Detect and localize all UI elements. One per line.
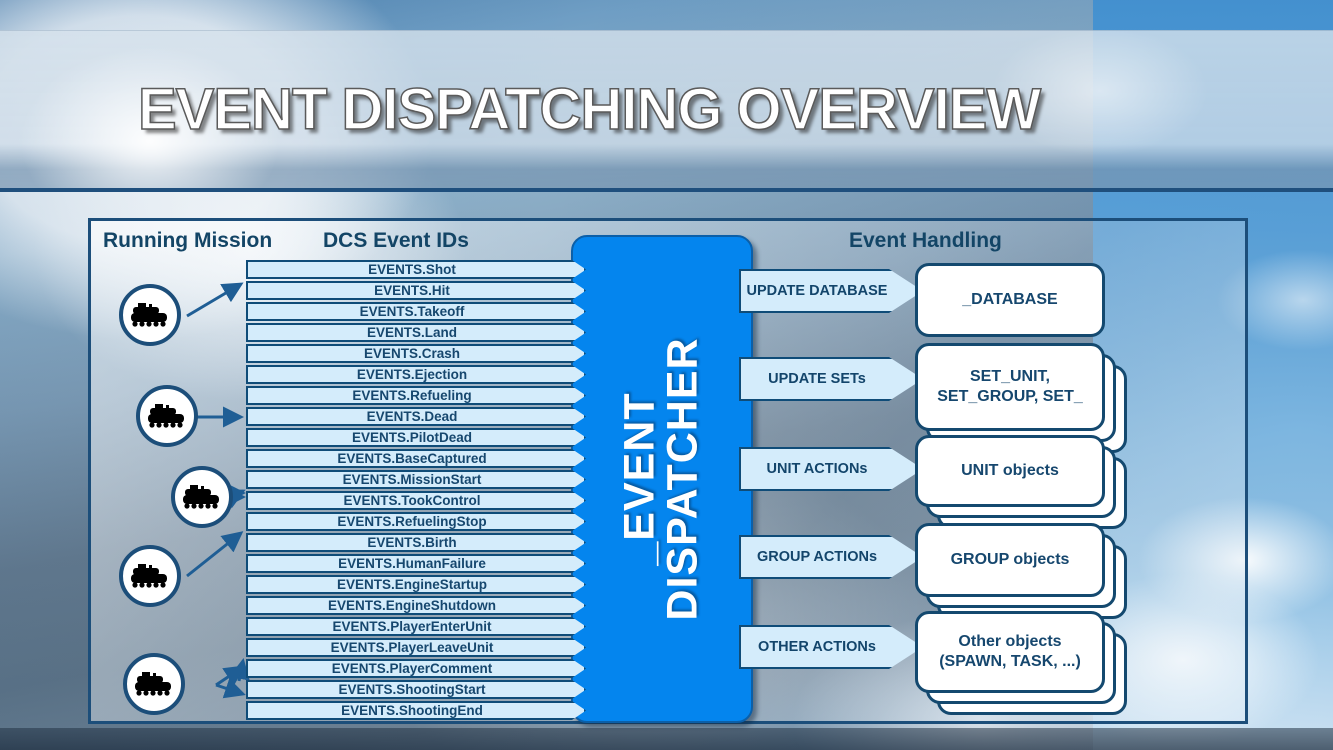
- handling-action-label: UPDATE DATABASE: [747, 283, 916, 299]
- tank-icon: [144, 401, 190, 431]
- event-id-list: EVENTS.ShotEVENTS.HitEVENTS.TakeoffEVENT…: [246, 260, 586, 722]
- event-id-row[interactable]: EVENTS.ShootingStart: [246, 680, 586, 699]
- handling-object-card[interactable]: Other objects(SPAWN, TASK, ...): [915, 611, 1105, 693]
- event-id-label: EVENTS.Land: [367, 325, 465, 340]
- event-id-row[interactable]: EVENTS.ShootingEnd: [246, 701, 586, 720]
- event-id-label: EVENTS.HumanFailure: [338, 556, 494, 571]
- handling-action-arrow[interactable]: UPDATE SETs: [739, 357, 923, 401]
- event-id-row[interactable]: EVENTS.Crash: [246, 344, 586, 363]
- unit-avatar-2[interactable]: [136, 385, 198, 447]
- tank-icon: [179, 482, 225, 512]
- event-id-row[interactable]: EVENTS.PilotDead: [246, 428, 586, 447]
- tank-icon: [131, 669, 177, 699]
- handling-object-label: GROUP objects: [951, 550, 1070, 570]
- event-id-label: EVENTS.PlayerEnterUnit: [332, 619, 499, 634]
- event-id-row[interactable]: EVENTS.Ejection: [246, 365, 586, 384]
- handling-action-label: OTHER ACTIONs: [758, 639, 904, 655]
- handling-object-label: UNIT objects: [961, 461, 1059, 481]
- event-id-label: EVENTS.Takeoff: [360, 304, 473, 319]
- event-id-row[interactable]: EVENTS.EngineStartup: [246, 575, 586, 594]
- event-id-label: EVENTS.ShootingEnd: [341, 703, 491, 718]
- handling-object-group: GROUP objects: [915, 523, 1127, 621]
- event-id-row[interactable]: EVENTS.MissionStart: [246, 470, 586, 489]
- event-dispatcher-label: _EVENT DISPATCHER: [619, 337, 705, 620]
- handling-object-label: Other objects(SPAWN, TASK, ...): [939, 632, 1081, 672]
- event-id-label: EVENTS.Refueling: [352, 388, 479, 403]
- handling-action-arrow[interactable]: OTHER ACTIONs: [739, 625, 923, 669]
- event-id-row[interactable]: EVENTS.EngineShutdown: [246, 596, 586, 615]
- page-title: EVENT DISPATCHING OVERVIEW: [138, 76, 1040, 143]
- event-id-label: EVENTS.Birth: [367, 535, 464, 550]
- event-id-label: EVENTS.Crash: [364, 346, 468, 361]
- handling-object-card[interactable]: GROUP objects: [915, 523, 1105, 597]
- event-id-row[interactable]: EVENTS.PlayerEnterUnit: [246, 617, 586, 636]
- handling-action-label: UPDATE SETs: [768, 371, 894, 387]
- event-id-row[interactable]: EVENTS.Refueling: [246, 386, 586, 405]
- unit-avatar-1[interactable]: [119, 284, 181, 346]
- event-id-row[interactable]: EVENTS.TookControl: [246, 491, 586, 510]
- handling-object-group: Other objects(SPAWN, TASK, ...): [915, 611, 1127, 717]
- event-id-label: EVENTS.Hit: [374, 283, 458, 298]
- event-id-label: EVENTS.ShootingStart: [338, 682, 493, 697]
- event-id-label: EVENTS.PilotDead: [352, 430, 480, 445]
- header-running-mission: Running Mission: [103, 229, 272, 253]
- handling-action-label: GROUP ACTIONs: [757, 549, 905, 565]
- unit-avatar-3[interactable]: [171, 466, 233, 528]
- handling-action-arrow[interactable]: UPDATE DATABASE: [739, 269, 923, 313]
- handling-action-arrow[interactable]: GROUP ACTIONs: [739, 535, 923, 579]
- handling-object-card[interactable]: _DATABASE: [915, 263, 1105, 337]
- event-id-row[interactable]: EVENTS.Shot: [246, 260, 586, 279]
- event-id-row[interactable]: EVENTS.Birth: [246, 533, 586, 552]
- tank-icon: [127, 561, 173, 591]
- slide-canvas: EVENT DISPATCHING OVERVIEW Running Missi…: [0, 0, 1333, 750]
- event-id-row[interactable]: EVENTS.HumanFailure: [246, 554, 586, 573]
- event-id-label: EVENTS.MissionStart: [343, 472, 490, 487]
- dispatcher-label-line1: _EVENT: [619, 337, 662, 620]
- handling-action-arrow[interactable]: UNIT ACTIONs: [739, 447, 923, 491]
- event-id-row[interactable]: EVENTS.Takeoff: [246, 302, 586, 321]
- unit-avatar-4[interactable]: [119, 545, 181, 607]
- handling-object-card[interactable]: UNIT objects: [915, 435, 1105, 507]
- event-id-label: EVENTS.Ejection: [357, 367, 475, 382]
- event-id-label: EVENTS.Dead: [367, 409, 466, 424]
- event-id-row[interactable]: EVENTS.Land: [246, 323, 586, 342]
- event-id-label: EVENTS.PlayerLeaveUnit: [331, 640, 502, 655]
- event-id-label: EVENTS.RefuelingStop: [337, 514, 494, 529]
- event-id-row[interactable]: EVENTS.PlayerComment: [246, 659, 586, 678]
- event-id-label: EVENTS.TookControl: [344, 493, 489, 508]
- event-id-label: EVENTS.BaseCaptured: [337, 451, 494, 466]
- event-id-row[interactable]: EVENTS.RefuelingStop: [246, 512, 586, 531]
- event-id-row[interactable]: EVENTS.PlayerLeaveUnit: [246, 638, 586, 657]
- content-frame: Running Mission DCS Event IDs Event Hand…: [88, 218, 1248, 724]
- event-id-label: EVENTS.PlayerComment: [332, 661, 501, 676]
- unit-avatar-5[interactable]: [123, 653, 185, 715]
- handling-object-card[interactable]: SET_UNIT,SET_GROUP, SET_: [915, 343, 1105, 431]
- dispatcher-label-line2: DISPATCHER: [662, 337, 705, 620]
- event-id-row[interactable]: EVENTS.Dead: [246, 407, 586, 426]
- handling-object-group: UNIT objects: [915, 435, 1127, 531]
- event-id-label: EVENTS.EngineStartup: [337, 577, 495, 592]
- handling-object-label: _DATABASE: [962, 290, 1057, 310]
- event-dispatcher-block[interactable]: _EVENT DISPATCHER: [571, 235, 753, 723]
- header-event-handling: Event Handling: [849, 229, 1002, 253]
- tank-icon: [127, 300, 173, 330]
- event-id-row[interactable]: EVENTS.Hit: [246, 281, 586, 300]
- event-id-label: EVENTS.Shot: [368, 262, 464, 277]
- header-dcs-event-ids: DCS Event IDs: [323, 229, 469, 253]
- event-id-row[interactable]: EVENTS.BaseCaptured: [246, 449, 586, 468]
- event-id-label: EVENTS.EngineShutdown: [328, 598, 504, 613]
- handling-object-label: SET_UNIT,SET_GROUP, SET_: [937, 367, 1083, 407]
- bottom-strip: [0, 728, 1333, 750]
- handling-action-label: UNIT ACTIONs: [767, 461, 896, 477]
